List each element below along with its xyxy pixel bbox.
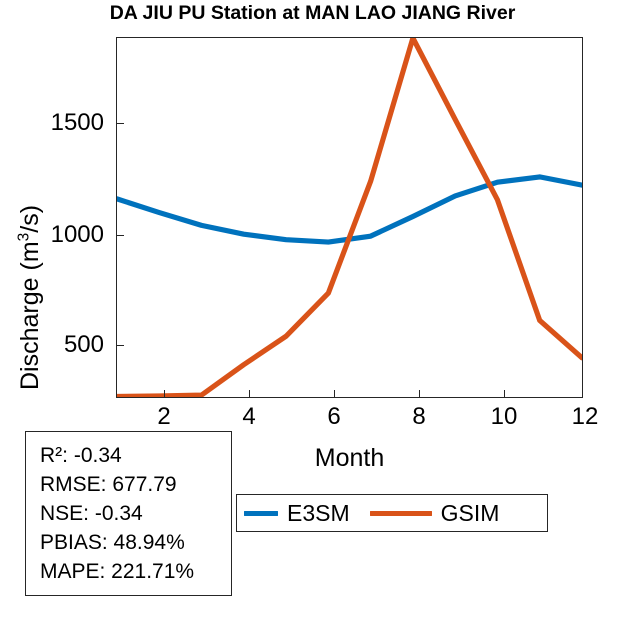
stat-line-r2: R²: -0.34 bbox=[40, 441, 231, 470]
legend-color-swatch-e3sm bbox=[244, 511, 278, 516]
y-axis-label: Discharge (m3/s) bbox=[18, 205, 43, 390]
x-tick-mark-2 bbox=[164, 390, 165, 398]
stat-line-nse: NSE: -0.34 bbox=[40, 499, 231, 528]
legend-entry-gsim[interactable]: GSIM bbox=[370, 495, 500, 531]
legend-label-gsim: GSIM bbox=[441, 502, 500, 525]
plot-svg bbox=[117, 38, 582, 397]
y-axis-label-base: Discharge (m bbox=[16, 241, 44, 390]
x-tick-label-6: 6 bbox=[304, 405, 364, 429]
chart-figure: DA JIU PU Station at MAN LAO JIANG River… bbox=[0, 0, 625, 625]
x-tick-mark-12 bbox=[582, 390, 583, 398]
x-tick-mark-4 bbox=[249, 390, 250, 398]
y-tick-label-1500: 1500 bbox=[42, 111, 104, 135]
y-axis-label-tail: /s) bbox=[16, 205, 44, 233]
y-tick-mark-1000 bbox=[116, 235, 124, 236]
y-tick-label-1000: 1000 bbox=[42, 223, 104, 247]
legend-color-swatch-gsim bbox=[370, 511, 432, 516]
stat-line-pbias: PBIAS: 48.94% bbox=[40, 528, 231, 557]
statistics-box: R²: -0.34 RMSE: 677.79 NSE: -0.34 PBIAS:… bbox=[25, 431, 232, 596]
y-tick-mark-1500 bbox=[116, 123, 124, 124]
legend-label-e3sm: E3SM bbox=[287, 502, 350, 525]
stat-line-mape: MAPE: 221.71% bbox=[40, 557, 231, 586]
x-tick-label-2: 2 bbox=[134, 405, 194, 429]
y-tick-mark-500 bbox=[116, 345, 124, 346]
x-tick-mark-10 bbox=[504, 390, 505, 398]
x-tick-label-12: 12 bbox=[555, 405, 615, 429]
legend-entry-e3sm[interactable]: E3SM bbox=[244, 495, 350, 531]
series-line-gsim bbox=[117, 38, 582, 396]
chart-title: DA JIU PU Station at MAN LAO JIANG River bbox=[0, 2, 625, 25]
x-tick-label-4: 4 bbox=[219, 405, 279, 429]
plot-area bbox=[116, 37, 583, 398]
y-tick-label-500: 500 bbox=[42, 333, 104, 357]
stat-line-rmse: RMSE: 677.79 bbox=[40, 470, 231, 499]
x-tick-mark-8 bbox=[419, 390, 420, 398]
x-tick-mark-6 bbox=[334, 390, 335, 398]
x-tick-label-10: 10 bbox=[474, 405, 534, 429]
x-tick-label-8: 8 bbox=[389, 405, 449, 429]
chart-legend: E3SM GSIM bbox=[236, 494, 548, 532]
y-axis-label-exponent: 3 bbox=[16, 233, 33, 242]
